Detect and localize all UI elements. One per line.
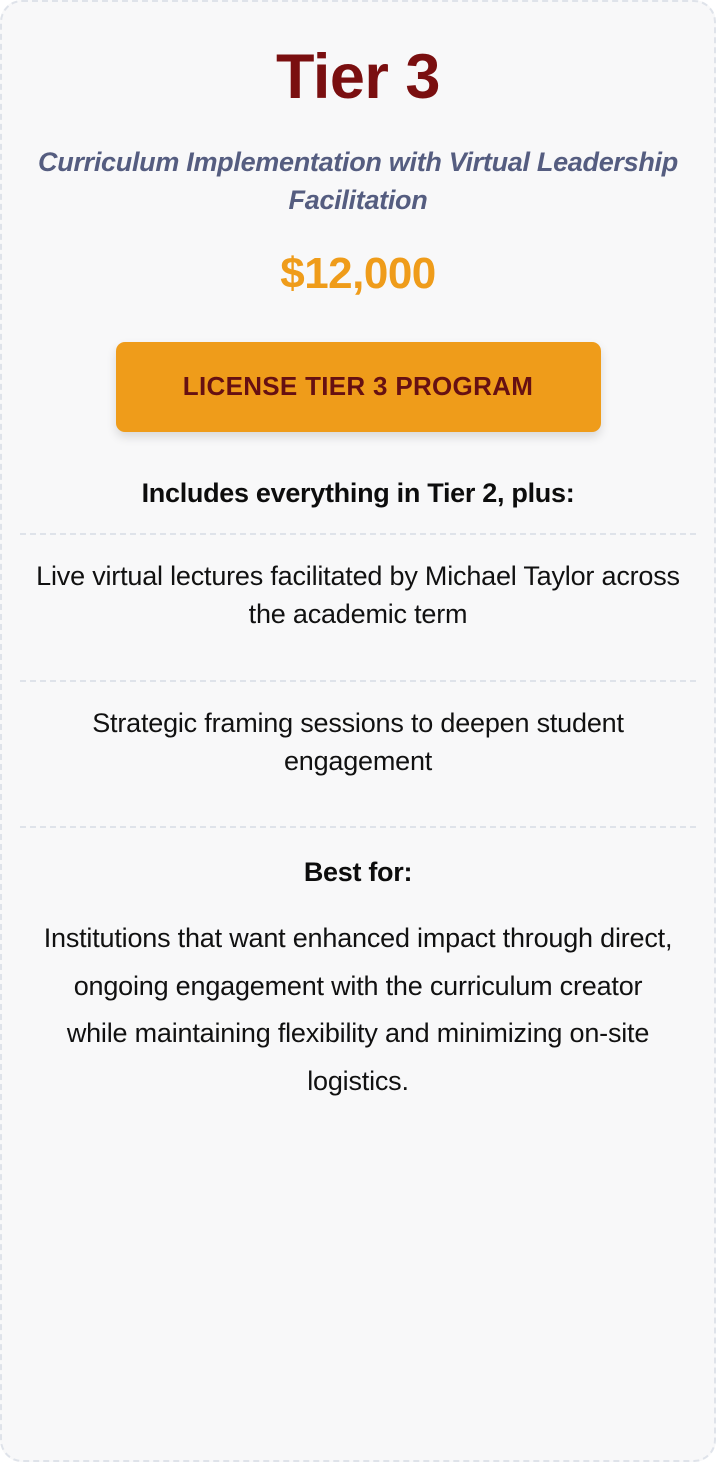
includes-heading: Includes everything in Tier 2, plus: [10,432,706,509]
list-item: Strategic framing sessions to deepen stu… [10,682,706,803]
best-for-heading: Best for: [10,828,706,888]
page-title: Tier 3 [10,2,706,109]
price-amount: $12,000 [10,220,706,296]
tier-subtitle: Curriculum Implementation with Virtual L… [10,109,706,220]
pricing-card-tier-3: Tier 3 Curriculum Implementation with Vi… [0,0,716,1462]
license-tier-3-program-button[interactable]: LICENSE TIER 3 PROGRAM [116,342,601,432]
card-bottom-spacer [10,1106,706,1460]
best-for-description: Institutions that want enhanced impact t… [10,889,706,1106]
cta-container: LICENSE TIER 3 PROGRAM [10,296,706,432]
list-item: Live virtual lectures facilitated by Mic… [10,535,706,656]
